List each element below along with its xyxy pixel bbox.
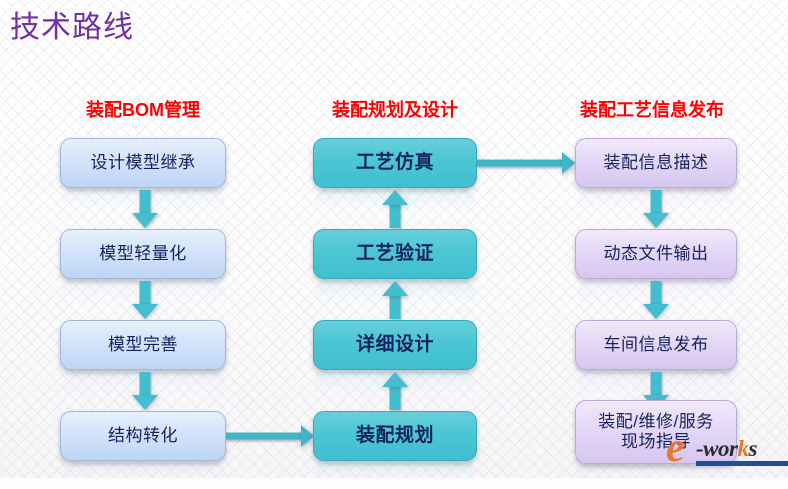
- node-reflection: [62, 281, 226, 311]
- arrow-shaft: [651, 281, 662, 306]
- node-assembly-info-description[interactable]: 装配信息描述: [575, 138, 737, 188]
- arrow-structure-to-assembly-planning: [226, 425, 314, 447]
- arrow-head: [382, 372, 408, 387]
- arrow-shaft: [651, 372, 662, 397]
- arrow-shaft: [477, 160, 564, 167]
- arrow-head: [643, 213, 669, 228]
- node-detailed-design[interactable]: 详细设计: [313, 320, 477, 370]
- arrow-shaft: [226, 433, 303, 440]
- arrow-shaft: [390, 203, 401, 228]
- arrow-up-2-2: [382, 281, 408, 319]
- node-label: 详细设计: [356, 334, 434, 356]
- node-assembly-planning[interactable]: 装配规划: [313, 411, 477, 461]
- arrow-shaft: [140, 372, 151, 397]
- arrow-up-2-3: [382, 372, 408, 410]
- node-process-simulation[interactable]: 工艺仿真: [313, 138, 477, 188]
- arrow-head: [132, 213, 158, 228]
- node-design-model-inheritance[interactable]: 设计模型继承: [60, 138, 226, 188]
- node-label: 模型完善: [108, 335, 178, 355]
- node-label: 装配规划: [356, 425, 434, 447]
- column-header-assembly-process-info-release: 装配工艺信息发布: [566, 96, 738, 122]
- arrow-down-3-2: [643, 281, 669, 319]
- node-label: 工艺仿真: [356, 152, 434, 174]
- arrow-shaft: [390, 385, 401, 410]
- node-reflection: [62, 372, 226, 402]
- node-reflection: [577, 372, 735, 402]
- node-reflection: [577, 281, 735, 311]
- column-header-assembly-bom-management: 装配BOM管理: [60, 96, 226, 122]
- node-model-lightweighting[interactable]: 模型轻量化: [60, 229, 226, 279]
- logo-s: s: [748, 436, 756, 461]
- node-reflection: [315, 372, 475, 402]
- arrow-down-1-2: [132, 281, 158, 319]
- arrow-process-simulation-to-assembly-info: [477, 152, 575, 174]
- arrow-head: [382, 281, 408, 296]
- node-model-refinement[interactable]: 模型完善: [60, 320, 226, 370]
- node-reflection: [62, 190, 226, 220]
- node-label: 装配信息描述: [604, 153, 709, 173]
- page-title: 技术路线: [10, 2, 134, 46]
- node-reflection: [315, 190, 475, 220]
- node-structure-conversion[interactable]: 结构转化: [60, 411, 226, 461]
- logo-k: k: [737, 436, 748, 461]
- arrow-shaft: [140, 281, 151, 306]
- arrow-shaft: [140, 190, 151, 215]
- arrow-shaft: [390, 294, 401, 319]
- node-label: 模型轻量化: [99, 244, 187, 264]
- arrow-head: [643, 304, 669, 319]
- node-process-verification[interactable]: 工艺验证: [313, 229, 477, 279]
- node-reflection: [62, 463, 226, 489]
- node-workshop-info-release[interactable]: 车间信息发布: [575, 320, 737, 370]
- arrow-head: [132, 304, 158, 319]
- node-reflection: [315, 463, 475, 489]
- node-label: 工艺验证: [356, 243, 434, 265]
- node-reflection: [577, 190, 735, 220]
- node-reflection: [315, 281, 475, 311]
- node-label-line1: 装配/维修/服务: [598, 412, 713, 432]
- column-header-assembly-planning-design: 装配规划及设计: [313, 96, 477, 122]
- node-label: 车间信息发布: [604, 335, 709, 355]
- arrow-up-2-1: [382, 190, 408, 228]
- arrow-head: [562, 152, 575, 174]
- arrow-down-1-1: [132, 190, 158, 228]
- node-assembly-maintenance-service-onsite-guidance[interactable]: 装配/维修/服务 现场指导: [575, 400, 737, 464]
- arrow-down-3-1: [643, 190, 669, 228]
- arrow-down-1-3: [132, 372, 158, 410]
- node-label: 结构转化: [108, 426, 178, 446]
- slide-canvas: 技术路线 装配BOM管理 装配规划及设计 装配工艺信息发布 设计模型继承 模型轻…: [0, 0, 788, 478]
- node-reflection: [577, 465, 735, 485]
- arrow-shaft: [651, 190, 662, 215]
- node-label: 动态文件输出: [604, 244, 709, 264]
- arrow-head: [382, 190, 408, 205]
- node-label: 设计模型继承: [91, 153, 196, 173]
- node-dynamic-document-output[interactable]: 动态文件输出: [575, 229, 737, 279]
- arrow-head: [132, 395, 158, 410]
- node-label-line2: 现场指导: [621, 432, 691, 452]
